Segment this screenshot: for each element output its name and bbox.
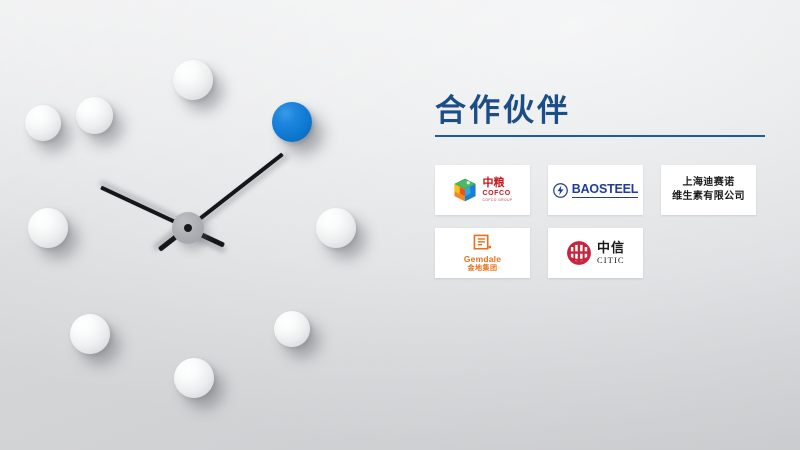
baosteel-emblem-icon	[553, 183, 568, 198]
cofco-cube-icon	[452, 177, 478, 203]
cofco-wordmark: 中粮 COFCO COFCO GROUP	[482, 178, 512, 202]
cofco-name-cn: 中粮	[482, 178, 512, 189]
clock-marker-7	[70, 314, 110, 354]
clock-marker-9	[28, 208, 68, 248]
disano-line-2: 维生素有限公司	[672, 190, 745, 204]
page-title: 合作伙伴	[435, 92, 775, 130]
citic-wordmark: 中信 CITIC	[597, 241, 625, 265]
cofco-subtext: COFCO GROUP	[482, 199, 512, 202]
partners-section: 合作伙伴 中粮	[435, 92, 775, 278]
clock-marker-12	[173, 60, 213, 100]
clock-hub-pin	[184, 224, 192, 232]
citic-name-cn: 中信	[597, 241, 625, 254]
partner-card-citic[interactable]: 中信 CITIC	[548, 228, 643, 278]
clock-illustration	[0, 0, 400, 450]
citic-logo: 中信 CITIC	[566, 240, 625, 266]
clock-marker-6	[174, 358, 214, 398]
clock-marker-4	[274, 311, 310, 347]
partner-card-gemdale[interactable]: Gemdale 金地集团	[435, 228, 530, 278]
baosteel-wordmark: BAOSTEEL	[572, 183, 638, 198]
gemdale-logo: Gemdale 金地集团	[464, 234, 501, 273]
citic-name-en: CITIC	[597, 256, 625, 265]
cofco-name-en: COFCO	[482, 190, 512, 197]
partner-card-cofco[interactable]: 中粮 COFCO COFCO GROUP	[435, 165, 530, 215]
clock-marker-3	[316, 208, 356, 248]
gemdale-name-en: Gemdale	[464, 255, 501, 264]
clock-marker-10	[25, 105, 61, 141]
partner-logo-grid: 中粮 COFCO COFCO GROUP BAOSTEEL	[435, 165, 775, 278]
partner-card-disano[interactable]: 上海迪赛诺 维生素有限公司	[661, 165, 756, 215]
partner-card-baosteel[interactable]: BAOSTEEL	[548, 165, 643, 215]
clock-marker-11	[76, 97, 113, 134]
disano-wordmark: 上海迪赛诺 维生素有限公司	[672, 176, 745, 204]
gemdale-mark-icon	[473, 234, 492, 253]
disano-line-1: 上海迪赛诺	[672, 176, 745, 190]
gemdale-name-cn: 金地集团	[464, 265, 501, 272]
title-underline	[435, 135, 765, 137]
baosteel-logo: BAOSTEEL	[553, 183, 638, 198]
clock-marker-1-accent	[272, 102, 312, 142]
citic-emblem-icon	[566, 240, 592, 266]
slide-root: 合作伙伴 中粮	[0, 0, 800, 450]
cofco-logo: 中粮 COFCO COFCO GROUP	[452, 177, 512, 203]
